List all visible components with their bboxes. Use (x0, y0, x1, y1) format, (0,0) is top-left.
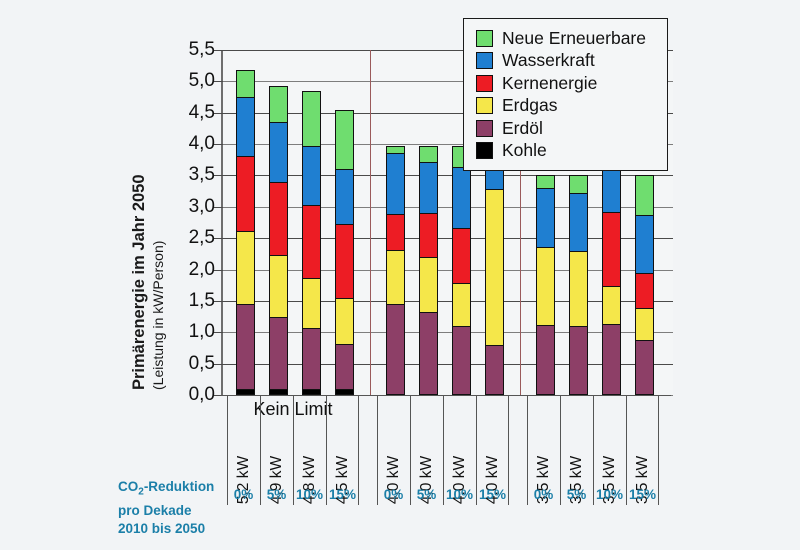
legend-swatch-icon (476, 75, 493, 92)
bar-segment-kernenergie (636, 274, 653, 309)
stacked-bar[interactable] (569, 175, 588, 395)
bar-segment-erd-l (303, 329, 320, 389)
stacked-bar[interactable] (536, 175, 555, 395)
bar-segment-kernenergie (270, 183, 287, 256)
y-axis-tick-label: 2,5 (145, 227, 215, 249)
legend-swatch-icon (476, 120, 493, 137)
legend-label: Erdöl (502, 118, 543, 139)
bar-segment-erd-l (336, 345, 353, 389)
y-axis-tick (214, 207, 223, 208)
bar-segment-erdgas (486, 190, 503, 346)
bar-segment-kohle (336, 390, 353, 394)
y-axis-tick (214, 238, 223, 239)
legend-swatch-icon (476, 30, 493, 47)
bar-segment-erd-l (570, 327, 587, 394)
bar-segment-wasserkraft (537, 189, 554, 248)
bar-segment-kohle (303, 390, 320, 394)
x-axis-percent-label: 10% (443, 487, 476, 502)
legend-item: Kernenergie (476, 72, 657, 95)
stacked-bar[interactable] (419, 146, 438, 395)
caption-reduktion: -Reduktion (144, 479, 215, 494)
bar-segment-erd-l (486, 346, 503, 394)
bar-segment-neue-erneuerbare (270, 87, 287, 123)
legend-item: Kohle (476, 140, 657, 163)
x-axis-percent-label: 15% (476, 487, 509, 502)
bar-segment-wasserkraft (303, 147, 320, 207)
y-axis-tick-label: 5,5 (145, 39, 215, 61)
chart-legend: Neue ErneuerbareWasserkraftKernenergieEr… (463, 18, 668, 171)
bar-segment-kernenergie (387, 215, 404, 251)
bar-segment-neue-erneuerbare (303, 92, 320, 146)
legend-item: Erdgas (476, 95, 657, 118)
bar-segment-kernenergie (420, 214, 437, 258)
caption-line-2: pro Dekade (118, 502, 214, 520)
bar-segment-erdgas (303, 279, 320, 329)
bar-segment-neue-erneuerbare (636, 176, 653, 215)
bar-segment-wasserkraft (453, 168, 470, 229)
bar-segment-neue-erneuerbare (537, 176, 554, 188)
x-axis-labels: Kein Limit5,2 kW0%4,9 kW5%4,8 kW10%4,5 k… (221, 395, 671, 505)
bar-segment-erdgas (537, 248, 554, 326)
bar-segment-erd-l (453, 327, 470, 394)
bar-segment-erd-l (420, 313, 437, 394)
bar-segment-kernenergie (603, 213, 620, 287)
bar-segment-kohle (237, 390, 254, 394)
stacked-bar[interactable] (386, 146, 405, 395)
bar-segment-wasserkraft (420, 163, 437, 214)
x-axis-percent-label: 5% (560, 487, 593, 502)
bar-segment-wasserkraft (237, 98, 254, 157)
co2-reduction-caption: CO2-Reduktion pro Dekade 2010 bis 2050 (118, 478, 214, 538)
bar-segment-erd-l (270, 318, 287, 390)
y-axis-tick (214, 50, 223, 51)
caption-co2: CO (118, 479, 138, 494)
bar-segment-kernenergie (237, 157, 254, 232)
x-axis-percent-label: 0% (377, 487, 410, 502)
y-axis-tick (214, 301, 223, 302)
x-axis-percent-label: 10% (593, 487, 626, 502)
bar-segment-neue-erneuerbare (420, 147, 437, 163)
y-axis-tick-label: 4,0 (145, 133, 215, 155)
legend-item: Neue Erneuerbare (476, 27, 657, 50)
bar-segment-kernenergie (453, 229, 470, 284)
bar-segment-erd-l (636, 341, 653, 394)
y-axis-tick-label: 0,5 (145, 353, 215, 375)
group-separator (370, 50, 371, 395)
bar-segment-kohle (270, 390, 287, 394)
legend-label: Neue Erneuerbare (502, 28, 646, 49)
bar-segment-wasserkraft (336, 170, 353, 225)
bar-segment-wasserkraft (270, 123, 287, 183)
stacked-bar[interactable] (485, 144, 504, 395)
stacked-bar[interactable] (302, 91, 321, 395)
x-axis-percent-label: 0% (227, 487, 260, 502)
bar-segment-erdgas (270, 256, 287, 318)
caption-line-3: 2010 bis 2050 (118, 520, 214, 538)
bar-segment-wasserkraft (570, 194, 587, 252)
bar-segment-erdgas (603, 287, 620, 326)
bar-segment-kernenergie (303, 206, 320, 279)
x-axis-percent-label: 5% (410, 487, 443, 502)
bar-segment-neue-erneuerbare (387, 147, 404, 154)
x-axis-percent-label: 5% (260, 487, 293, 502)
y-axis-tick-label: 2,0 (145, 259, 215, 281)
legend-item: Wasserkraft (476, 50, 657, 73)
y-axis-tick (214, 113, 223, 114)
y-axis-tick (214, 81, 223, 82)
y-axis-tick-label: 1,0 (145, 321, 215, 343)
stacked-bar[interactable] (335, 110, 354, 395)
y-axis-tick-label: 0,0 (145, 384, 215, 406)
bar-segment-erdgas (387, 251, 404, 305)
y-axis-tick-label: 4,5 (145, 102, 215, 124)
bar-segment-erd-l (237, 305, 254, 389)
bar-segment-erdgas (636, 309, 653, 341)
y-axis-tick (214, 332, 223, 333)
bar-segment-neue-erneuerbare (237, 71, 254, 98)
stacked-bar[interactable] (236, 70, 255, 395)
bar-segment-erdgas (570, 252, 587, 327)
x-axis-percent-label: 0% (527, 487, 560, 502)
stacked-bar[interactable] (452, 146, 471, 395)
bar-segment-erd-l (387, 305, 404, 394)
bar-segment-kernenergie (336, 225, 353, 300)
stacked-bar[interactable] (269, 86, 288, 395)
bar-segment-neue-erneuerbare (336, 111, 353, 170)
y-axis-tick (214, 144, 223, 145)
legend-label: Kohle (502, 140, 547, 161)
bar-segment-wasserkraft (636, 216, 653, 274)
chart-root: Primärenergie im Jahr 2050 (Leistung in … (0, 0, 800, 550)
y-axis-tick (214, 270, 223, 271)
legend-item: Erdöl (476, 117, 657, 140)
y-axis-tick (214, 175, 223, 176)
legend-label: Wasserkraft (502, 50, 595, 71)
legend-swatch-icon (476, 97, 493, 114)
legend-label: Erdgas (502, 95, 557, 116)
legend-label: Kernenergie (502, 73, 597, 94)
x-axis-percent-label: 10% (293, 487, 326, 502)
y-axis-tick (214, 364, 223, 365)
bar-segment-erd-l (537, 326, 554, 394)
stacked-bar[interactable] (635, 175, 654, 395)
x-axis-percent-label: 15% (326, 487, 359, 502)
bar-segment-erdgas (453, 284, 470, 328)
legend-swatch-icon (476, 142, 493, 159)
bar-segment-erd-l (603, 325, 620, 394)
y-axis-tick-label: 1,5 (145, 290, 215, 312)
legend-swatch-icon (476, 52, 493, 69)
x-axis-percent-label: 15% (626, 487, 659, 502)
y-axis-tick-label: 5,0 (145, 70, 215, 92)
bar-segment-erdgas (237, 232, 254, 306)
bar-segment-neue-erneuerbare (570, 176, 587, 193)
y-axis-tick-label: 3,5 (145, 164, 215, 186)
caption-line-1: CO2-Reduktion (118, 478, 214, 502)
bar-segment-erdgas (420, 258, 437, 313)
bar-segment-wasserkraft (387, 154, 404, 214)
bar-segment-erdgas (336, 299, 353, 345)
y-axis-tick-label: 3,0 (145, 196, 215, 218)
